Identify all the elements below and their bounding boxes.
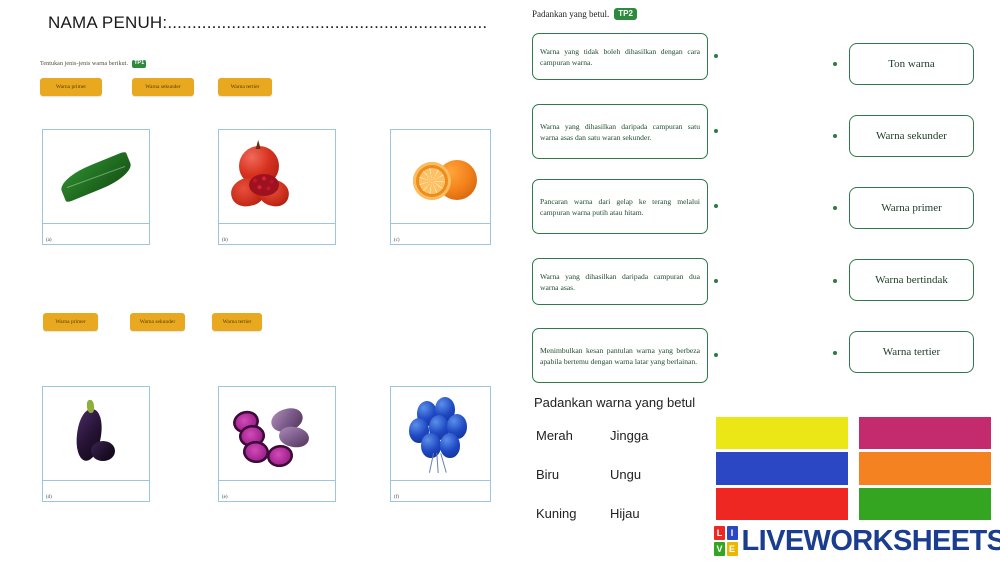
- section1-instruction-row: Tentukan jenis-jenis warna berikut. TP1: [40, 60, 146, 68]
- definition-card[interactable]: Pancaran warna dari gelap ke terang mela…: [532, 179, 708, 234]
- liveworksheets-wordmark: LIVEWORKSHEETS: [742, 527, 1000, 556]
- pill-warna-sekunder-1[interactable]: Warna sekunder: [132, 78, 194, 96]
- image-caption-e: (e): [222, 495, 228, 500]
- match-dot-left[interactable]: [714, 353, 718, 357]
- liveworksheets-logo-tiles: L I V E: [714, 526, 738, 556]
- image-caption-f: (f): [394, 495, 399, 500]
- definition-card[interactable]: Menimbulkan kesan pantulan warna yang be…: [532, 328, 708, 383]
- match-dot-left[interactable]: [714, 279, 718, 283]
- pill-warna-primer-2[interactable]: Warna primer: [43, 313, 98, 331]
- section1-pill-row-1: Warna primer Warna sekunder Warna tertie…: [40, 78, 500, 98]
- definition-card[interactable]: Warna yang dihasilkan daripada campuran …: [532, 258, 708, 305]
- answer-card[interactable]: Warna tertier: [849, 331, 974, 373]
- color-word-left[interactable]: Kuning: [536, 506, 576, 521]
- match-dot-right[interactable]: [833, 351, 837, 355]
- section1-pill-row-2: Warna primer Warna sekunder Warna tertie…: [40, 313, 500, 333]
- green-swatch[interactable]: [859, 488, 991, 520]
- definition-card[interactable]: Warna yang tidak boleh dihasilkan dengan…: [532, 33, 708, 80]
- match-dot-left[interactable]: [714, 129, 718, 133]
- section2-instruction-text: Padankan yang betul.: [532, 9, 609, 19]
- image-caption-c: (c): [394, 238, 400, 243]
- answer-card[interactable]: Warna bertindak: [849, 259, 974, 301]
- liveworksheets-logo: L I V E LIVEWORKSHEETS: [714, 524, 1000, 558]
- answer-card[interactable]: Warna primer: [849, 187, 974, 229]
- logo-tile-i: I: [727, 526, 738, 540]
- match-dot-right[interactable]: [833, 279, 837, 283]
- image-card-a[interactable]: (a): [42, 129, 150, 245]
- image-caption-b: (b): [222, 238, 228, 243]
- name-field-label: NAMA PENUH:.............................…: [48, 13, 487, 33]
- match-dot-left[interactable]: [714, 204, 718, 208]
- tp2-badge: TP2: [614, 8, 637, 20]
- match-dot-right[interactable]: [833, 206, 837, 210]
- orange-swatch[interactable]: [859, 452, 991, 484]
- tp1-badge: TP1: [132, 60, 146, 68]
- logo-tile-v: V: [714, 542, 725, 556]
- pill-warna-primer-1[interactable]: Warna primer: [40, 78, 102, 96]
- color-word-left[interactable]: Biru: [536, 467, 559, 482]
- definition-card[interactable]: Warna yang dihasilkan daripada campuran …: [532, 104, 708, 159]
- purple-sweet-potato-image: [219, 387, 335, 481]
- answer-card[interactable]: Ton warna: [849, 43, 974, 85]
- section3-title: Padankan warna yang betul: [534, 395, 695, 410]
- logo-tile-l: L: [714, 526, 725, 540]
- eggplant-image: [43, 387, 149, 481]
- worksheet-right-panel: Padankan yang betul. TP2 Warna yang tida…: [520, 0, 1000, 562]
- color-word-left[interactable]: Merah: [536, 428, 573, 443]
- image-caption-d: (d): [46, 495, 52, 500]
- image-card-b[interactable]: (b): [218, 129, 336, 245]
- image-card-e[interactable]: (e): [218, 386, 336, 502]
- green-leaf-image: [43, 130, 149, 224]
- orange-fruit-image: [391, 130, 490, 224]
- pill-warna-sekunder-2[interactable]: Warna sekunder: [130, 313, 185, 331]
- pomegranate-image: [219, 130, 335, 224]
- color-word-right[interactable]: Hijau: [610, 506, 640, 521]
- match-dot-left[interactable]: [714, 54, 718, 58]
- logo-tile-e: E: [727, 542, 738, 556]
- image-card-c[interactable]: (c): [390, 129, 491, 245]
- match-dot-right[interactable]: [833, 62, 837, 66]
- color-word-right[interactable]: Jingga: [610, 428, 648, 443]
- blue-balloons-image: [391, 387, 490, 481]
- section2-instruction-row: Padankan yang betul. TP2: [532, 8, 637, 20]
- yellow-swatch[interactable]: [716, 417, 848, 449]
- magenta-swatch[interactable]: [859, 417, 991, 449]
- blue-swatch[interactable]: [716, 452, 848, 484]
- worksheet-left-panel: NAMA PENUH:.............................…: [0, 0, 520, 562]
- pill-warna-tertier-2[interactable]: Warna tertier: [212, 313, 262, 331]
- image-caption-a: (a): [46, 238, 52, 243]
- red-swatch[interactable]: [716, 488, 848, 520]
- color-swatch-grid: [716, 417, 991, 520]
- image-card-d[interactable]: (d): [42, 386, 150, 502]
- answer-card[interactable]: Warna sekunder: [849, 115, 974, 157]
- section1-instruction-text: Tentukan jenis-jenis warna berikut.: [40, 61, 128, 67]
- pill-warna-tertier-1[interactable]: Warna tertier: [218, 78, 272, 96]
- match-dot-right[interactable]: [833, 134, 837, 138]
- color-word-right[interactable]: Ungu: [610, 467, 641, 482]
- image-card-f[interactable]: (f): [390, 386, 491, 502]
